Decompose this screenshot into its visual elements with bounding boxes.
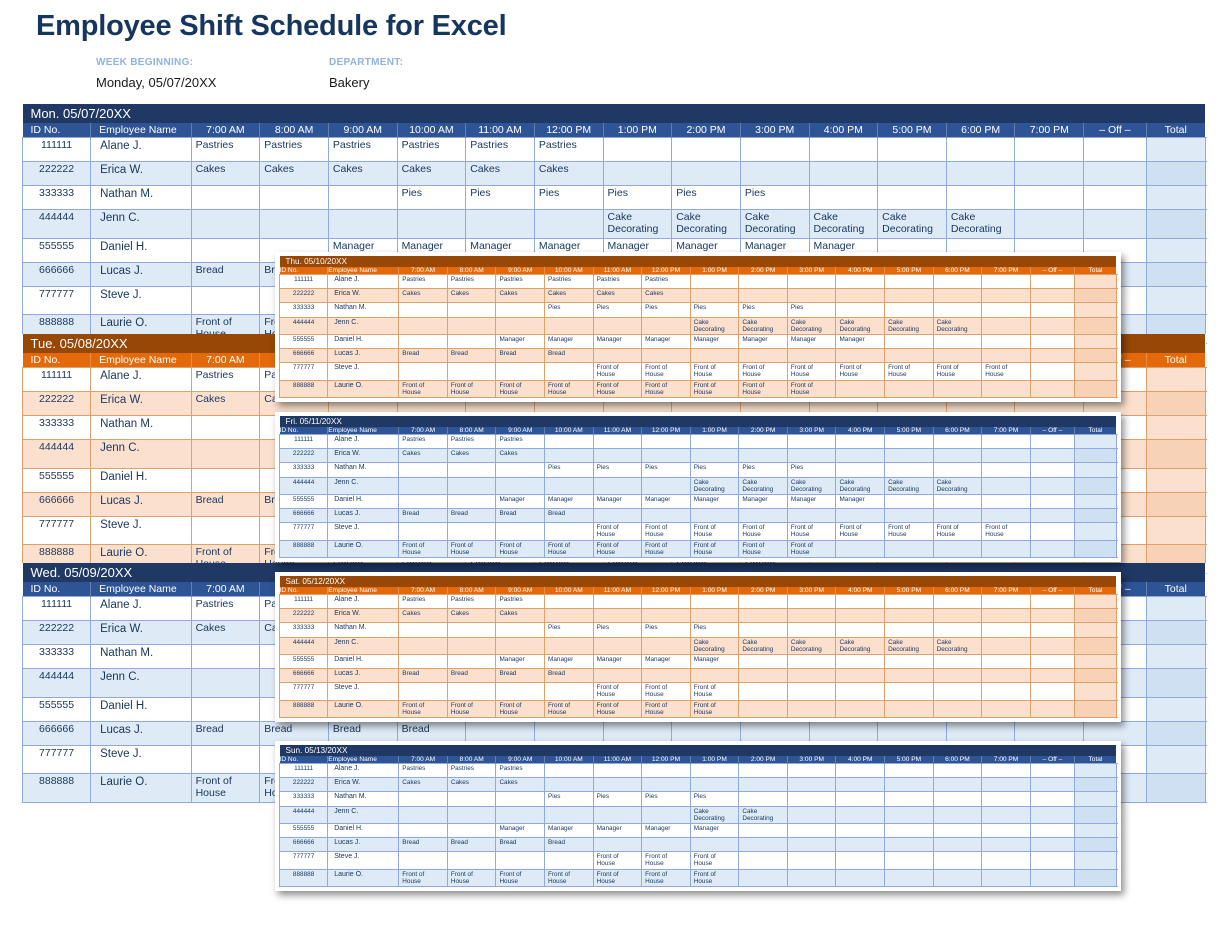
cell-employee-name[interactable]: Jenn C.: [328, 477, 399, 494]
cell-off[interactable]: [1146, 697, 1205, 721]
cell-shift-hour-4[interactable]: Pastries: [545, 275, 594, 289]
cell-shift-hour-6[interactable]: Pies: [642, 623, 691, 637]
cell-employee-id[interactable]: 666666: [280, 349, 328, 363]
cell-shift-hour-8[interactable]: Pies: [672, 186, 741, 210]
cell-shift-hour-7[interactable]: Front of House: [690, 380, 739, 397]
cell-shift-hour-9[interactable]: Cake Decorating: [787, 637, 836, 654]
cell-employee-id[interactable]: 444444: [23, 210, 91, 239]
cell-shift-hour-9[interactable]: Cake Decorating: [787, 317, 836, 334]
cell-employee-name[interactable]: Nathan M.: [328, 303, 399, 317]
cell-employee-id[interactable]: 444444: [23, 669, 91, 698]
cell-shift-hour-8[interactable]: Front of House: [739, 540, 788, 557]
cell-shift-hour-11[interactable]: [885, 289, 934, 303]
cell-shift-hour-1[interactable]: [191, 468, 260, 492]
column-header-hour-12[interactable]: 6:00 PM: [933, 267, 982, 275]
cell-shift-hour-3[interactable]: Pastries: [496, 595, 545, 609]
cell-shift-hour-13[interactable]: [982, 764, 1031, 778]
cell-shift-hour-13[interactable]: [1015, 138, 1084, 162]
table-row[interactable]: 555555Daniel H.ManagerManagerManagerMana…: [280, 334, 1117, 348]
cell-shift-hour-11[interactable]: [885, 823, 934, 837]
cell-shift-hour-12[interactable]: [933, 838, 982, 852]
cell-shift-hour-13[interactable]: [982, 477, 1031, 494]
cell-shift-hour-7[interactable]: Cake Decorating: [690, 477, 739, 494]
cell-shift-hour-6[interactable]: [642, 637, 691, 654]
cell-shift-hour-12[interactable]: [933, 463, 982, 477]
cell-shift-hour-5[interactable]: [593, 778, 642, 792]
cell-shift-hour-8[interactable]: Front of House: [739, 523, 788, 540]
cell-shift-hour-12[interactable]: [933, 669, 982, 683]
cell-shift-hour-11[interactable]: Cake Decorating: [885, 317, 934, 334]
cell-off[interactable]: [1075, 792, 1117, 806]
cell-shift-hour-11[interactable]: [885, 509, 934, 523]
cell-shift-hour-13[interactable]: [982, 435, 1031, 449]
cell-off[interactable]: [1075, 477, 1117, 494]
cell-employee-id[interactable]: 777777: [280, 523, 328, 540]
column-header-hour-10[interactable]: 4:00 PM: [809, 123, 878, 138]
table-row[interactable]: 444444Jenn C.Cake DecoratingCake Decorat…: [280, 477, 1117, 494]
cell-shift-hour-14[interactable]: [1030, 494, 1074, 508]
cell-shift-hour-2[interactable]: [447, 654, 496, 668]
cell-shift-hour-12[interactable]: [933, 806, 982, 823]
cell-shift-hour-1[interactable]: [191, 745, 260, 774]
table-row[interactable]: 111111Alane J.PastriesPastriesPastries3: [280, 595, 1117, 609]
cell-employee-name[interactable]: Lucas J.: [91, 721, 191, 745]
cell-shift-hour-3[interactable]: [496, 683, 545, 700]
cell-shift-hour-8[interactable]: [739, 700, 788, 717]
cell-employee-name[interactable]: Alane J.: [328, 595, 399, 609]
cell-shift-hour-5[interactable]: Pies: [593, 792, 642, 806]
cell-shift-hour-6[interactable]: [642, 449, 691, 463]
cell-shift-hour-8[interactable]: [739, 654, 788, 668]
column-header-hour-11[interactable]: 5:00 PM: [885, 427, 934, 435]
cell-shift-hour-7[interactable]: Front of House: [690, 852, 739, 869]
column-header-id[interactable]: ID No.: [23, 123, 91, 138]
table-row[interactable]: 222222Erica W.CakesCakesCakes3: [280, 449, 1117, 463]
cell-shift-hour-3[interactable]: [328, 186, 397, 210]
cell-shift-hour-11[interactable]: [878, 138, 947, 162]
cell-shift-hour-3[interactable]: [496, 623, 545, 637]
cell-shift-hour-8[interactable]: [672, 162, 741, 186]
cell-shift-hour-9[interactable]: [787, 609, 836, 623]
column-header-name[interactable]: Employee Name: [328, 427, 399, 435]
cell-off[interactable]: [1146, 138, 1205, 162]
cell-shift-hour-9[interactable]: Cake Decorating: [740, 210, 809, 239]
cell-shift-hour-14[interactable]: [1030, 509, 1074, 523]
cell-shift-hour-7[interactable]: [690, 838, 739, 852]
cell-shift-hour-5[interactable]: Pies: [593, 623, 642, 637]
cell-shift-hour-2[interactable]: Bread: [447, 838, 496, 852]
cell-shift-hour-2[interactable]: Cakes: [260, 162, 329, 186]
cell-shift-hour-3[interactable]: Front of House: [496, 380, 545, 397]
cell-shift-hour-7[interactable]: Front of House: [690, 700, 739, 717]
cell-shift-hour-13[interactable]: [1015, 210, 1084, 239]
column-header-hour-3[interactable]: 9:00 AM: [496, 587, 545, 595]
cell-employee-name[interactable]: Lucas J.: [91, 262, 191, 286]
cell-shift-hour-6[interactable]: Pies: [642, 463, 691, 477]
cell-shift-hour-6[interactable]: [642, 778, 691, 792]
cell-shift-hour-6[interactable]: [642, 435, 691, 449]
table-row[interactable]: 222222Erica W.CakesCakesCakes3: [280, 778, 1117, 792]
cell-shift-hour-3[interactable]: [496, 477, 545, 494]
cell-shift-hour-10[interactable]: [836, 349, 885, 363]
cell-shift-hour-9[interactable]: [787, 778, 836, 792]
cell-employee-name[interactable]: Erica W.: [328, 449, 399, 463]
cell-shift-hour-13[interactable]: [982, 595, 1031, 609]
cell-shift-hour-2[interactable]: Bread: [447, 509, 496, 523]
cell-shift-hour-10[interactable]: [809, 162, 878, 186]
cell-shift-hour-1[interactable]: Cakes: [399, 778, 448, 792]
cell-employee-name[interactable]: Daniel H.: [91, 697, 191, 721]
cell-shift-hour-13[interactable]: [982, 609, 1031, 623]
cell-employee-id[interactable]: 333333: [280, 623, 328, 637]
cell-shift-hour-1[interactable]: Pastries: [399, 764, 448, 778]
cell-shift-hour-14[interactable]: [1084, 162, 1147, 186]
cell-shift-hour-12[interactable]: [933, 683, 982, 700]
cell-shift-hour-6[interactable]: Front of House: [642, 540, 691, 557]
cell-shift-hour-11[interactable]: [885, 764, 934, 778]
cell-shift-hour-14[interactable]: [1030, 823, 1074, 837]
cell-shift-hour-5[interactable]: [593, 806, 642, 823]
cell-employee-name[interactable]: Steve J.: [328, 523, 399, 540]
cell-employee-id[interactable]: 222222: [280, 289, 328, 303]
cell-shift-hour-13[interactable]: [982, 637, 1031, 654]
cell-shift-hour-5[interactable]: Front of House: [593, 363, 642, 380]
cell-shift-hour-6[interactable]: [642, 477, 691, 494]
cell-shift-hour-10[interactable]: [836, 806, 885, 823]
cell-shift-hour-10[interactable]: [836, 380, 885, 397]
cell-off[interactable]: [1075, 654, 1117, 668]
column-header-id[interactable]: ID No.: [23, 353, 91, 368]
cell-employee-name[interactable]: Jenn C.: [91, 669, 191, 698]
cell-shift-hour-6[interactable]: Pies: [642, 303, 691, 317]
table-row[interactable]: 333333Nathan M.PiesPiesPiesPies4: [280, 623, 1117, 637]
cell-employee-name[interactable]: Erica W.: [328, 289, 399, 303]
cell-off[interactable]: [1146, 186, 1205, 210]
table-row[interactable]: 777777Steve J.Front of HouseFront of Hou…: [280, 363, 1117, 380]
cell-shift-hour-1[interactable]: [399, 806, 448, 823]
cell-shift-hour-3[interactable]: Front of House: [496, 700, 545, 717]
cell-shift-hour-3[interactable]: Front of House: [496, 869, 545, 886]
cell-shift-hour-6[interactable]: [642, 669, 691, 683]
cell-off[interactable]: [1146, 162, 1205, 186]
cell-shift-hour-4[interactable]: Pies: [545, 792, 594, 806]
cell-shift-hour-2[interactable]: Pastries: [260, 138, 329, 162]
cell-shift-hour-14[interactable]: [1084, 186, 1147, 210]
cell-employee-id[interactable]: 777777: [23, 745, 91, 774]
cell-shift-hour-2[interactable]: [447, 477, 496, 494]
cell-shift-hour-2[interactable]: [447, 334, 496, 348]
cell-off[interactable]: [1146, 210, 1205, 239]
cell-shift-hour-10[interactable]: [836, 792, 885, 806]
cell-shift-hour-4[interactable]: Manager: [545, 823, 594, 837]
cell-shift-hour-8[interactable]: [739, 764, 788, 778]
cell-off[interactable]: [1075, 494, 1117, 508]
column-header-hour-2[interactable]: 8:00 AM: [447, 587, 496, 595]
cell-shift-hour-13[interactable]: [982, 823, 1031, 837]
cell-shift-hour-3[interactable]: Bread: [496, 349, 545, 363]
cell-shift-hour-7[interactable]: Cake Decorating: [603, 210, 672, 239]
cell-shift-hour-11[interactable]: Cake Decorating: [885, 637, 934, 654]
cell-shift-hour-2[interactable]: Cakes: [447, 778, 496, 792]
cell-shift-hour-4[interactable]: Pies: [545, 303, 594, 317]
cell-employee-id[interactable]: 111111: [23, 597, 91, 621]
cell-shift-hour-5[interactable]: Pastries: [593, 275, 642, 289]
cell-off[interactable]: [1146, 645, 1205, 669]
cell-shift-hour-11[interactable]: [885, 463, 934, 477]
cell-employee-name[interactable]: Steve J.: [328, 683, 399, 700]
cell-off[interactable]: [1075, 700, 1117, 717]
cell-shift-hour-14[interactable]: [1030, 380, 1074, 397]
cell-shift-hour-5[interactable]: Pastries: [466, 138, 535, 162]
cell-off[interactable]: [1075, 852, 1117, 869]
cell-shift-hour-11[interactable]: Front of House: [885, 523, 934, 540]
table-row[interactable]: 777777Steve J.Front of HouseFront of Hou…: [280, 683, 1117, 700]
cell-off[interactable]: [1146, 774, 1205, 803]
column-header-hour-2[interactable]: 8:00 AM: [447, 427, 496, 435]
cell-employee-name[interactable]: Erica W.: [328, 609, 399, 623]
cell-shift-hour-4[interactable]: Manager: [545, 494, 594, 508]
cell-shift-hour-2[interactable]: [447, 792, 496, 806]
cell-shift-hour-1[interactable]: [191, 669, 260, 698]
cell-shift-hour-10[interactable]: [836, 609, 885, 623]
cell-employee-id[interactable]: 888888: [23, 774, 91, 803]
cell-employee-id[interactable]: 555555: [280, 823, 328, 837]
cell-shift-hour-2[interactable]: [447, 494, 496, 508]
cell-shift-hour-9[interactable]: [787, 792, 836, 806]
cell-shift-hour-3[interactable]: Manager: [496, 494, 545, 508]
cell-shift-hour-13[interactable]: [982, 806, 1031, 823]
column-header-hour-8[interactable]: 2:00 PM: [672, 123, 741, 138]
cell-shift-hour-14[interactable]: [1084, 210, 1147, 239]
cell-shift-hour-14[interactable]: [1030, 637, 1074, 654]
column-header-id[interactable]: ID No.: [280, 756, 328, 764]
cell-shift-hour-13[interactable]: [982, 623, 1031, 637]
cell-shift-hour-4[interactable]: Pastries: [397, 138, 466, 162]
cell-shift-hour-5[interactable]: Pies: [593, 463, 642, 477]
column-header-hour-8[interactable]: 2:00 PM: [739, 427, 788, 435]
cell-shift-hour-5[interactable]: Cakes: [466, 162, 535, 186]
cell-off[interactable]: [1146, 468, 1205, 492]
cell-shift-hour-9[interactable]: Front of House: [787, 363, 836, 380]
cell-shift-hour-5[interactable]: Manager: [593, 334, 642, 348]
cell-shift-hour-6[interactable]: Pies: [534, 186, 603, 210]
cell-shift-hour-1[interactable]: Pastries: [191, 138, 260, 162]
cell-off[interactable]: [1146, 669, 1205, 698]
cell-shift-hour-6[interactable]: Cakes: [642, 289, 691, 303]
cell-shift-hour-5[interactable]: [593, 609, 642, 623]
column-header-hour-2[interactable]: 8:00 AM: [260, 123, 329, 138]
cell-shift-hour-6[interactable]: Pastries: [642, 275, 691, 289]
cell-shift-hour-5[interactable]: Front of House: [593, 852, 642, 869]
cell-shift-hour-14[interactable]: [1030, 609, 1074, 623]
cell-shift-hour-5[interactable]: Front of House: [593, 540, 642, 557]
cell-shift-hour-9[interactable]: [787, 669, 836, 683]
cell-employee-id[interactable]: 333333: [280, 792, 328, 806]
cell-shift-hour-14[interactable]: [1030, 869, 1074, 886]
cell-shift-hour-5[interactable]: Front of House: [593, 523, 642, 540]
cell-shift-hour-5[interactable]: [593, 349, 642, 363]
cell-shift-hour-12[interactable]: Front of House: [933, 523, 982, 540]
cell-shift-hour-5[interactable]: Pies: [466, 186, 535, 210]
cell-shift-hour-6[interactable]: Front of House: [642, 523, 691, 540]
table-row[interactable]: 888888Laurie O.Front of HouseFront of Ho…: [280, 380, 1117, 397]
cell-shift-hour-7[interactable]: Pies: [690, 303, 739, 317]
cell-shift-hour-3[interactable]: Cakes: [328, 162, 397, 186]
cell-shift-hour-3[interactable]: [496, 792, 545, 806]
cell-shift-hour-1[interactable]: [399, 852, 448, 869]
cell-shift-hour-10[interactable]: [809, 138, 878, 162]
cell-shift-hour-5[interactable]: Front of House: [593, 700, 642, 717]
cell-shift-hour-4[interactable]: [545, 683, 594, 700]
cell-shift-hour-2[interactable]: Pastries: [447, 764, 496, 778]
schedule-table-sat[interactable]: Sat. 05/12/20XXID No.Employee Name7:00 A…: [275, 572, 1121, 722]
cell-shift-hour-4[interactable]: Front of House: [545, 380, 594, 397]
cell-employee-id[interactable]: 777777: [280, 852, 328, 869]
cell-shift-hour-7[interactable]: Front of House: [690, 523, 739, 540]
cell-shift-hour-14[interactable]: [1030, 623, 1074, 637]
cell-employee-name[interactable]: Erica W.: [91, 162, 191, 186]
cell-shift-hour-7[interactable]: Cake Decorating: [690, 806, 739, 823]
cell-shift-hour-1[interactable]: [399, 334, 448, 348]
column-header-hour-2[interactable]: 8:00 AM: [447, 267, 496, 275]
column-header-hour-5[interactable]: 11:00 AM: [593, 587, 642, 595]
column-header-hour-10[interactable]: 4:00 PM: [836, 267, 885, 275]
cell-shift-hour-8[interactable]: Manager: [739, 494, 788, 508]
cell-shift-hour-14[interactable]: [1030, 764, 1074, 778]
cell-off[interactable]: [1146, 262, 1205, 286]
column-header-hour-10[interactable]: 4:00 PM: [836, 756, 885, 764]
cell-shift-hour-14[interactable]: [1030, 435, 1074, 449]
cell-shift-hour-7[interactable]: [690, 669, 739, 683]
cell-employee-name[interactable]: Nathan M.: [328, 792, 399, 806]
cell-shift-hour-9[interactable]: [787, 869, 836, 886]
cell-shift-hour-7[interactable]: Manager: [690, 654, 739, 668]
cell-shift-hour-8[interactable]: Cake Decorating: [739, 806, 788, 823]
cell-off[interactable]: [1075, 683, 1117, 700]
cell-shift-hour-14[interactable]: [1030, 595, 1074, 609]
cell-shift-hour-12[interactable]: [933, 275, 982, 289]
cell-shift-hour-5[interactable]: [593, 477, 642, 494]
cell-shift-hour-9[interactable]: Front of House: [787, 380, 836, 397]
cell-shift-hour-7[interactable]: Cake Decorating: [690, 317, 739, 334]
cell-employee-id[interactable]: 777777: [280, 683, 328, 700]
cell-shift-hour-6[interactable]: [642, 317, 691, 334]
column-header-id[interactable]: ID No.: [23, 582, 91, 597]
cell-off[interactable]: [1146, 238, 1205, 262]
column-header-hour-5[interactable]: 11:00 AM: [593, 427, 642, 435]
cell-shift-hour-4[interactable]: Manager: [545, 654, 594, 668]
cell-shift-hour-4[interactable]: [545, 764, 594, 778]
cell-shift-hour-2[interactable]: [447, 623, 496, 637]
table-row[interactable]: 333333Nathan M.PiesPiesPiesPiesPiesPies6: [23, 186, 1206, 210]
cell-shift-hour-12[interactable]: [933, 540, 982, 557]
cell-shift-hour-13[interactable]: [982, 852, 1031, 869]
cell-shift-hour-14[interactable]: [1030, 806, 1074, 823]
cell-shift-hour-8[interactable]: [739, 435, 788, 449]
cell-shift-hour-11[interactable]: [885, 700, 934, 717]
cell-shift-hour-14[interactable]: [1030, 792, 1074, 806]
cell-shift-hour-11[interactable]: [885, 595, 934, 609]
cell-shift-hour-4[interactable]: [545, 523, 594, 540]
cell-shift-hour-14[interactable]: [1030, 683, 1074, 700]
cell-employee-name[interactable]: Nathan M.: [91, 186, 191, 210]
cell-shift-hour-3[interactable]: [496, 317, 545, 334]
cell-off[interactable]: [1075, 349, 1117, 363]
table-row[interactable]: 666666Lucas J.BreadBreadBreadBread4: [280, 838, 1117, 852]
cell-shift-hour-10[interactable]: [836, 764, 885, 778]
cell-shift-hour-7[interactable]: [690, 275, 739, 289]
cell-shift-hour-2[interactable]: Front of House: [447, 380, 496, 397]
cell-shift-hour-1[interactable]: Bread: [191, 492, 260, 516]
cell-shift-hour-9[interactable]: Pies: [787, 303, 836, 317]
cell-shift-hour-14[interactable]: [1030, 317, 1074, 334]
cell-shift-hour-1[interactable]: [399, 637, 448, 654]
cell-shift-hour-6[interactable]: Manager: [642, 494, 691, 508]
cell-shift-hour-8[interactable]: [739, 289, 788, 303]
cell-shift-hour-12[interactable]: [933, 289, 982, 303]
cell-off[interactable]: [1075, 838, 1117, 852]
cell-shift-hour-2[interactable]: Pastries: [447, 595, 496, 609]
schedule-table-thu[interactable]: Thu. 05/10/20XXID No.Employee Name7:00 A…: [275, 252, 1121, 402]
cell-employee-id[interactable]: 444444: [280, 317, 328, 334]
column-header-total[interactable]: Total: [1075, 756, 1117, 764]
cell-shift-hour-5[interactable]: [593, 435, 642, 449]
cell-shift-hour-2[interactable]: Front of House: [447, 540, 496, 557]
cell-off[interactable]: [1146, 440, 1205, 469]
column-header-name[interactable]: Employee Name: [91, 123, 191, 138]
column-header-hour-7[interactable]: 1:00 PM: [690, 267, 739, 275]
schedule-table-sun[interactable]: Sun. 05/13/20XXID No.Employee Name7:00 A…: [275, 741, 1121, 891]
cell-shift-hour-3[interactable]: [496, 363, 545, 380]
table-row[interactable]: 888888Laurie O.Front of HouseFront of Ho…: [280, 869, 1117, 886]
column-header-hour-11[interactable]: 5:00 PM: [878, 123, 947, 138]
cell-shift-hour-9[interactable]: [787, 289, 836, 303]
cell-shift-hour-13[interactable]: [1015, 186, 1084, 210]
cell-shift-hour-2[interactable]: [260, 210, 329, 239]
cell-employee-id[interactable]: 555555: [280, 494, 328, 508]
column-header-hour-1[interactable]: 7:00 AM: [399, 267, 448, 275]
cell-off[interactable]: [1146, 392, 1205, 416]
column-header-off[interactable]: – Off –: [1030, 427, 1074, 435]
cell-shift-hour-10[interactable]: [836, 303, 885, 317]
cell-shift-hour-6[interactable]: Manager: [642, 654, 691, 668]
column-header-name[interactable]: Employee Name: [91, 353, 191, 368]
column-header-hour-6[interactable]: 12:00 PM: [534, 123, 603, 138]
column-header-hour-11[interactable]: 5:00 PM: [885, 267, 934, 275]
cell-shift-hour-6[interactable]: Cakes: [534, 162, 603, 186]
cell-shift-hour-8[interactable]: Cake Decorating: [672, 210, 741, 239]
cell-shift-hour-12[interactable]: [933, 792, 982, 806]
cell-employee-name[interactable]: Alane J.: [328, 275, 399, 289]
cell-shift-hour-13[interactable]: [982, 303, 1031, 317]
column-header-hour-1[interactable]: 7:00 AM: [191, 123, 260, 138]
cell-shift-hour-7[interactable]: Pies: [603, 186, 672, 210]
cell-shift-hour-1[interactable]: Pastries: [399, 595, 448, 609]
cell-employee-name[interactable]: Jenn C.: [91, 210, 191, 239]
cell-shift-hour-11[interactable]: [885, 669, 934, 683]
cell-shift-hour-3[interactable]: Bread: [496, 838, 545, 852]
cell-shift-hour-10[interactable]: [836, 669, 885, 683]
cell-employee-id[interactable]: 111111: [280, 275, 328, 289]
cell-shift-hour-3[interactable]: [496, 523, 545, 540]
cell-employee-id[interactable]: 555555: [23, 238, 91, 262]
cell-shift-hour-5[interactable]: Front of House: [593, 683, 642, 700]
cell-shift-hour-11[interactable]: [885, 654, 934, 668]
cell-shift-hour-10[interactable]: Cake Decorating: [836, 637, 885, 654]
cell-employee-id[interactable]: 111111: [280, 435, 328, 449]
table-row[interactable]: 111111Alane J.PastriesPastriesPastriesPa…: [23, 138, 1206, 162]
cell-shift-hour-2[interactable]: Cakes: [447, 289, 496, 303]
